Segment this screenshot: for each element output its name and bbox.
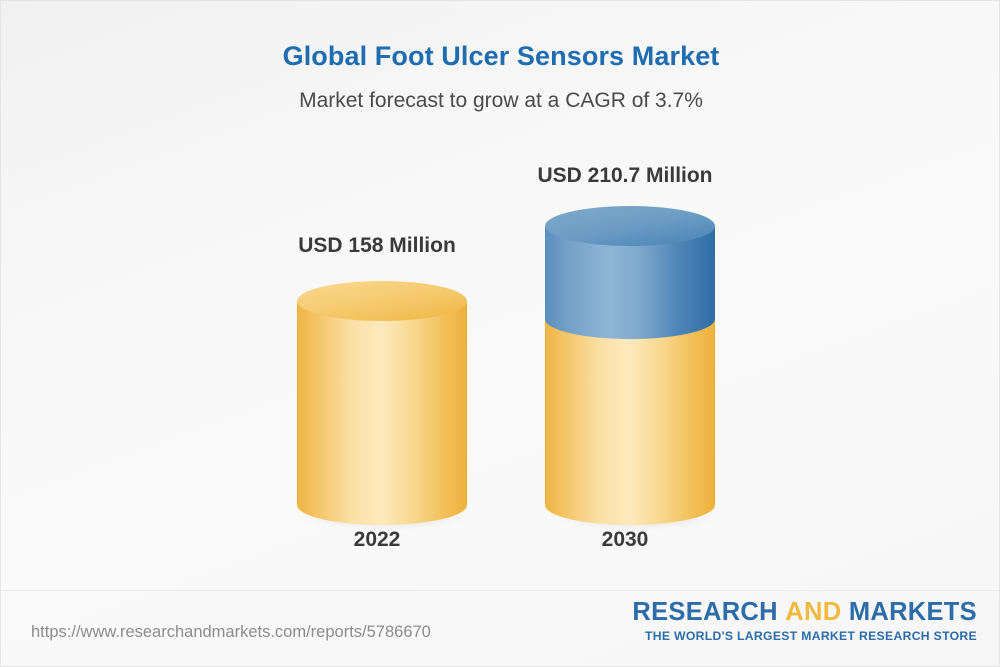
cylinder-2022-svg xyxy=(292,279,492,539)
logo-word-markets: MARKETS xyxy=(849,598,977,626)
logo-word-research: RESEARCH xyxy=(632,598,778,626)
cylinder-body xyxy=(297,301,467,525)
footer-divider xyxy=(1,590,1000,591)
cylinder-2022[interactable] xyxy=(292,279,492,539)
category-label-2030: 2030 xyxy=(540,528,710,552)
cylinder-2030-svg xyxy=(540,204,740,539)
cylinder-top-cap xyxy=(545,206,715,246)
infographic-canvas: Global Foot Ulcer Sensors Market Market … xyxy=(0,0,1000,667)
cylinder-top-cap xyxy=(297,281,467,321)
logo-space-2 xyxy=(841,598,848,626)
researchandmarkets-logo[interactable]: RESEARCH AND MARKETS THE WORLD'S LARGEST… xyxy=(632,599,977,643)
cylinder-segment-base xyxy=(545,319,715,525)
cylinder-2030[interactable] xyxy=(540,204,740,539)
bar-value-label-2022: USD 158 Million xyxy=(227,234,527,258)
chart-plot-area: USD 158 Million xyxy=(1,1,1000,591)
bar-value-label-2030: USD 210.7 Million xyxy=(475,164,775,188)
logo-wordmark: RESEARCH AND MARKETS xyxy=(632,599,977,626)
logo-word-and: AND xyxy=(785,598,841,626)
source-url-link[interactable]: https://www.researchandmarkets.com/repor… xyxy=(31,623,431,642)
category-label-2022: 2022 xyxy=(292,528,462,552)
logo-tagline: THE WORLD'S LARGEST MARKET RESEARCH STOR… xyxy=(632,629,977,643)
